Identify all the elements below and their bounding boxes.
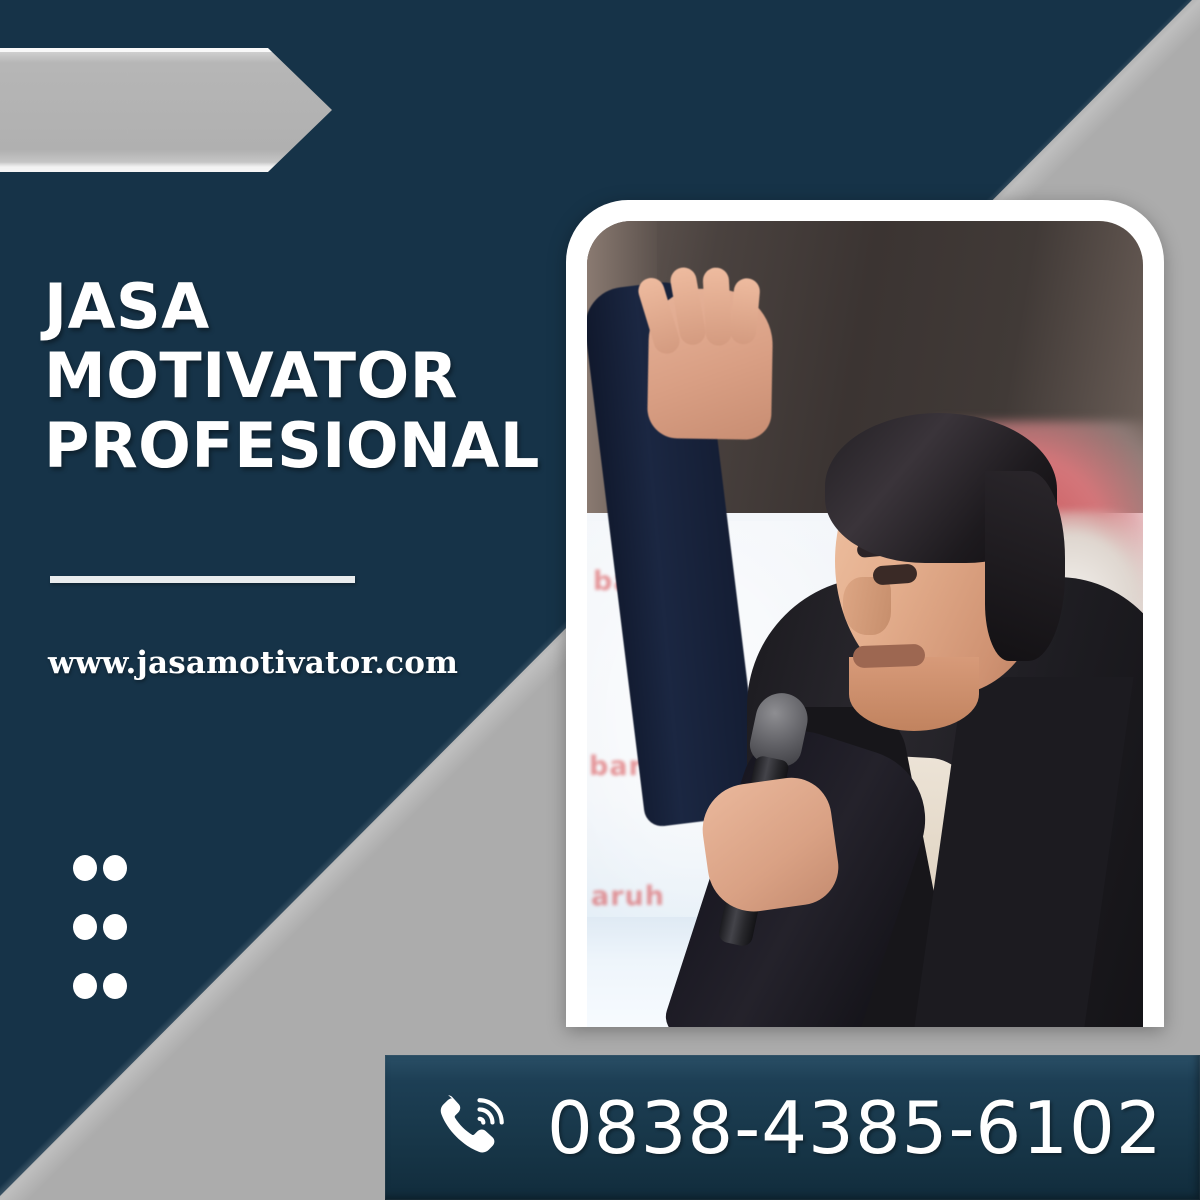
headline-line-1: JASA — [44, 272, 564, 341]
photo-mouth — [853, 644, 926, 668]
title-divider — [50, 576, 355, 583]
dot-grid-decoration — [73, 855, 133, 1032]
dot — [103, 855, 127, 881]
arrow-banner-highlight — [0, 48, 332, 172]
dot — [73, 914, 97, 940]
photo-hair-side — [985, 471, 1065, 661]
contact-bar[interactable]: 0838-4385-6102 — [385, 1055, 1200, 1200]
photo-eye — [872, 563, 917, 585]
page-title: JASA MOTIVATOR PROFESIONAL — [44, 272, 564, 480]
dot — [73, 855, 97, 881]
arrow-banner — [0, 48, 332, 172]
phone-number[interactable]: 0838-4385-6102 — [547, 1086, 1163, 1170]
photo-chin — [849, 657, 979, 731]
photo-screen-text: aruh — [591, 881, 665, 912]
dot — [103, 973, 127, 999]
speaker-photo: bahan baru aruh — [587, 221, 1143, 1027]
photo-finger — [702, 267, 732, 346]
website-url[interactable]: www.jasamotivator.com — [48, 645, 458, 681]
photo-mic-hand — [697, 773, 844, 918]
dot — [73, 973, 97, 999]
poster: JASA MOTIVATOR PROFESIONAL www.jasamotiv… — [0, 0, 1200, 1200]
headline-line-2: MOTIVATOR — [44, 341, 564, 410]
headline-line-3: PROFESIONAL — [44, 411, 564, 480]
speaker-photo-card: bahan baru aruh — [566, 200, 1164, 1027]
phone-call-icon — [435, 1091, 509, 1165]
dot — [103, 914, 127, 940]
photo-nose — [843, 577, 891, 635]
